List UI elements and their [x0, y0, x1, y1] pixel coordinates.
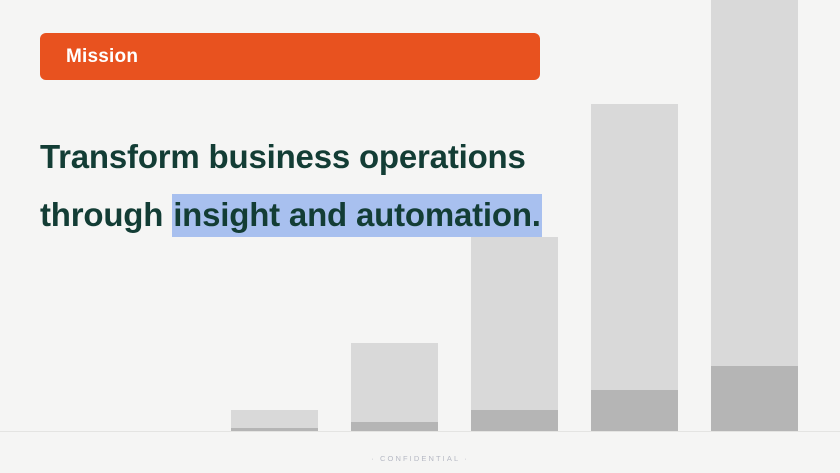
- headline-block: Transform business operations through in…: [40, 128, 780, 244]
- headline-line-2: through insight and automation.: [40, 186, 780, 244]
- chart-bar-3-lower-segment: [471, 410, 558, 431]
- headline-line-1: Transform business operations: [40, 128, 780, 186]
- slide-canvas: Mission Transform business operations th…: [0, 0, 840, 473]
- mission-badge: Mission: [40, 33, 540, 80]
- chart-bar-1-upper-segment: [231, 410, 318, 428]
- confidential-footer-note: · CONFIDENTIAL ·: [0, 454, 840, 463]
- chart-bar-2-lower-segment: [351, 422, 438, 431]
- chart-baseline-rule: [0, 431, 840, 432]
- mission-badge-label: Mission: [66, 47, 138, 66]
- chart-bar-4-lower-segment: [591, 390, 678, 431]
- chart-bar-5-lower-segment: [711, 366, 798, 431]
- headline-line-2-prefix: through: [40, 196, 172, 233]
- chart-bar-2-upper-segment: [351, 343, 438, 422]
- chart-bar-3-upper-segment: [471, 237, 558, 410]
- headline-selected-text[interactable]: insight and automation.: [172, 194, 542, 237]
